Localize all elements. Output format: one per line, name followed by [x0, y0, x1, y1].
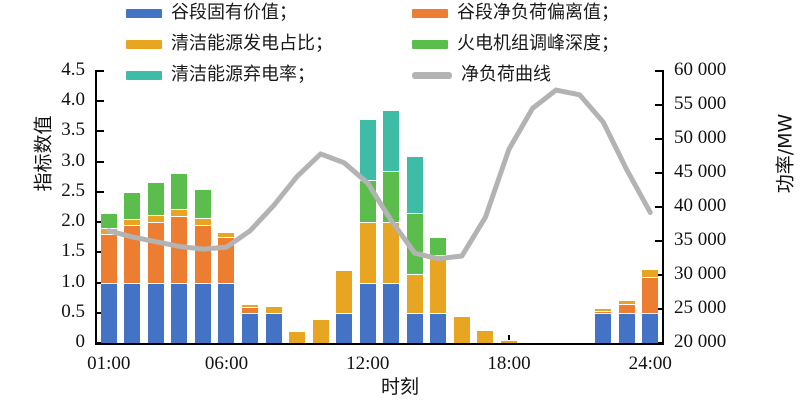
legend-label-2: 清洁能源发电占比； [171, 35, 333, 53]
y-tick-label-right: 20 000 [674, 331, 726, 353]
x-tick-label: 24:00 [629, 353, 672, 375]
y-tick-label-right: 50 000 [674, 127, 726, 149]
legend-swatch-blue [126, 9, 162, 18]
y-tick-label-left: 2.5 [61, 180, 85, 202]
y-tick-label-left: 0 [76, 331, 86, 353]
y-tick-label-right: 55 000 [674, 93, 726, 115]
plot-area: 00.51.01.52.02.53.03.54.04.5 20 00025 00… [97, 71, 662, 343]
net-load-curve [97, 71, 662, 343]
y-tick-label-right: 45 000 [674, 161, 726, 183]
legend-swatch-orange [412, 9, 448, 18]
y-tick-label-right: 35 000 [674, 229, 726, 251]
x-axis-label: 时刻 [0, 372, 800, 399]
y-tick-label-right: 25 000 [674, 297, 726, 319]
y-tick-label-right: 30 000 [674, 263, 726, 285]
y-axis-right-line [662, 70, 664, 344]
legend-label-0: 谷段固有价值； [171, 4, 297, 22]
x-tick-label: 06:00 [205, 353, 248, 375]
x-tick-label: 12:00 [346, 353, 389, 375]
y-tick-label-left: 1.5 [61, 240, 85, 262]
y-axis-label-right: 功率/MW [771, 84, 798, 224]
y-tick-label-left: 1.0 [61, 271, 85, 293]
y-tick-label-left: 4.0 [61, 89, 85, 111]
y-tick-label-left: 2.0 [61, 210, 85, 232]
y-tick-label-left: 3.0 [61, 150, 85, 172]
legend-item-valley-intrinsic-value: 谷段固有价值； [126, 4, 297, 22]
chart-root: 谷段固有价值； 谷段净负荷偏离值； 清洁能源发电占比； 火电机组调峰深度； 清洁… [0, 0, 800, 401]
y-tick-label-left: 3.5 [61, 119, 85, 141]
y-tick-label-left: 0.5 [61, 301, 85, 323]
legend-item-thermal-peak-regulation-depth: 火电机组调峰深度； [412, 35, 619, 53]
x-tick-label: 18:00 [487, 353, 530, 375]
legend-item-clean-energy-share: 清洁能源发电占比； [126, 35, 333, 53]
legend-swatch-yellow [126, 40, 162, 49]
legend-label-1: 谷段净负荷偏离值； [457, 4, 619, 22]
x-tick-label: 01:00 [87, 353, 130, 375]
legend-swatch-green [412, 40, 448, 49]
x-axis-line [95, 343, 664, 345]
y-axis-label-left: 指标数值 [29, 84, 56, 224]
y-tick-label-left: 4.5 [61, 59, 85, 81]
y-tick-label-right: 40 000 [674, 195, 726, 217]
legend-item-valley-netload-deviation: 谷段净负荷偏离值； [412, 4, 619, 22]
y-tick-label-right: 60 000 [674, 59, 726, 81]
legend-label-3: 火电机组调峰深度； [457, 35, 619, 53]
